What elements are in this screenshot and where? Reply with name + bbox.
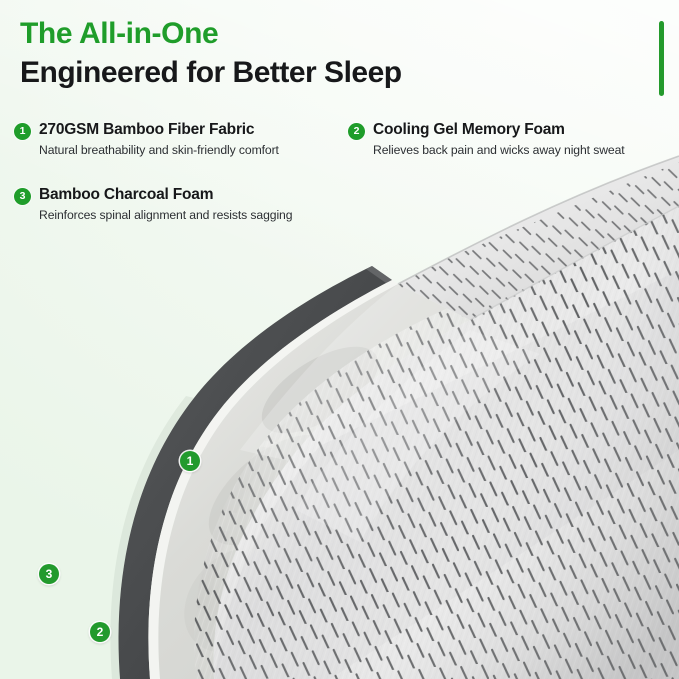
feature-2-heading: 2 Cooling Gel Memory Foam [348,121,678,140]
infographic-canvas: 1 2 3 The All-in-One Engineered for Bett… [0,0,679,679]
product-image: 1 2 3 [0,150,679,679]
product-marker-3[interactable]: 3 [39,564,59,584]
feature-item-2: 2 Cooling Gel Memory Foam Relieves back … [348,121,678,158]
feature-item-1: 1 270GSM Bamboo Fiber Fabric Natural bre… [14,121,344,158]
feature-1-heading: 1 270GSM Bamboo Fiber Fabric [14,121,344,140]
product-marker-1[interactable]: 1 [180,451,200,471]
accent-bar [659,21,664,96]
feature-2-subtitle: Relieves back pain and wicks away night … [373,143,678,158]
feature-item-3: 3 Bamboo Charcoal Foam Reinforces spinal… [14,186,354,223]
headline-line-1: The All-in-One [20,18,580,50]
feature-3-heading: 3 Bamboo Charcoal Foam [14,186,354,205]
feature-2-badge: 2 [348,123,365,140]
feature-3-title: Bamboo Charcoal Foam [39,186,213,204]
feature-2-title: Cooling Gel Memory Foam [373,121,565,139]
feature-1-badge: 1 [14,123,31,140]
feature-3-badge: 3 [14,188,31,205]
headline-line-2: Engineered for Better Sleep [20,57,580,89]
page-title: The All-in-One Engineered for Better Sle… [20,18,580,89]
product-marker-2[interactable]: 2 [90,622,110,642]
feature-3-subtitle: Reinforces spinal alignment and resists … [39,208,354,223]
feature-1-subtitle: Natural breathability and skin-friendly … [39,143,344,158]
feature-1-title: 270GSM Bamboo Fiber Fabric [39,121,254,139]
